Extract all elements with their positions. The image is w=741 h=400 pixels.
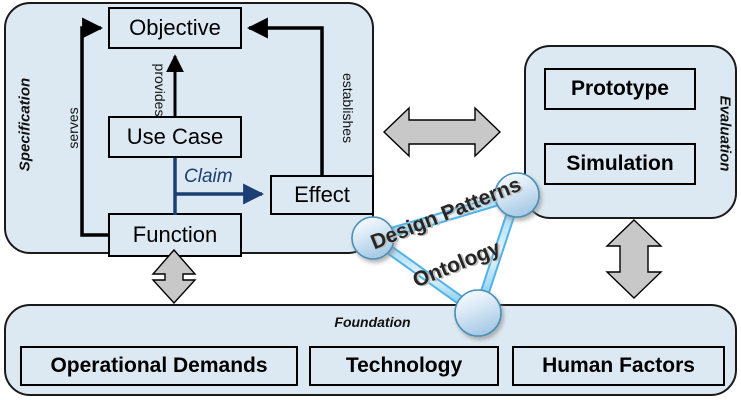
arrow-serves (82, 28, 108, 235)
arrow-evaluation-to-foundation (607, 220, 661, 298)
network-label-ontology: Ontology (410, 236, 504, 293)
arrow-spec-to-evaluation (384, 108, 500, 156)
box-technology[interactable]: Technology (309, 346, 499, 386)
panel-evaluation-title: Evaluation (717, 79, 734, 189)
box-simulation[interactable]: Simulation (544, 143, 696, 185)
panel-evaluation: Evaluation Prototype Simulation (524, 45, 737, 219)
arrow-claim (175, 158, 262, 215)
box-operational-demands[interactable]: Operational Demands (20, 346, 298, 386)
panel-specification: Specification Objective Use Case Functio… (4, 2, 374, 254)
diagram-canvas: Specification Objective Use Case Functio… (0, 0, 741, 400)
panel-foundation-title: Foundation (6, 314, 739, 330)
box-prototype[interactable]: Prototype (544, 68, 696, 110)
arrow-establishes (249, 28, 322, 175)
panel-foundation: Foundation Operational Demands Technolog… (4, 304, 737, 396)
arrow-spec-to-foundation (153, 250, 195, 303)
specification-connectors (6, 4, 376, 256)
box-human-factors[interactable]: Human Factors (512, 346, 725, 386)
network-label-design-patterns: Design Patterns (368, 173, 525, 255)
